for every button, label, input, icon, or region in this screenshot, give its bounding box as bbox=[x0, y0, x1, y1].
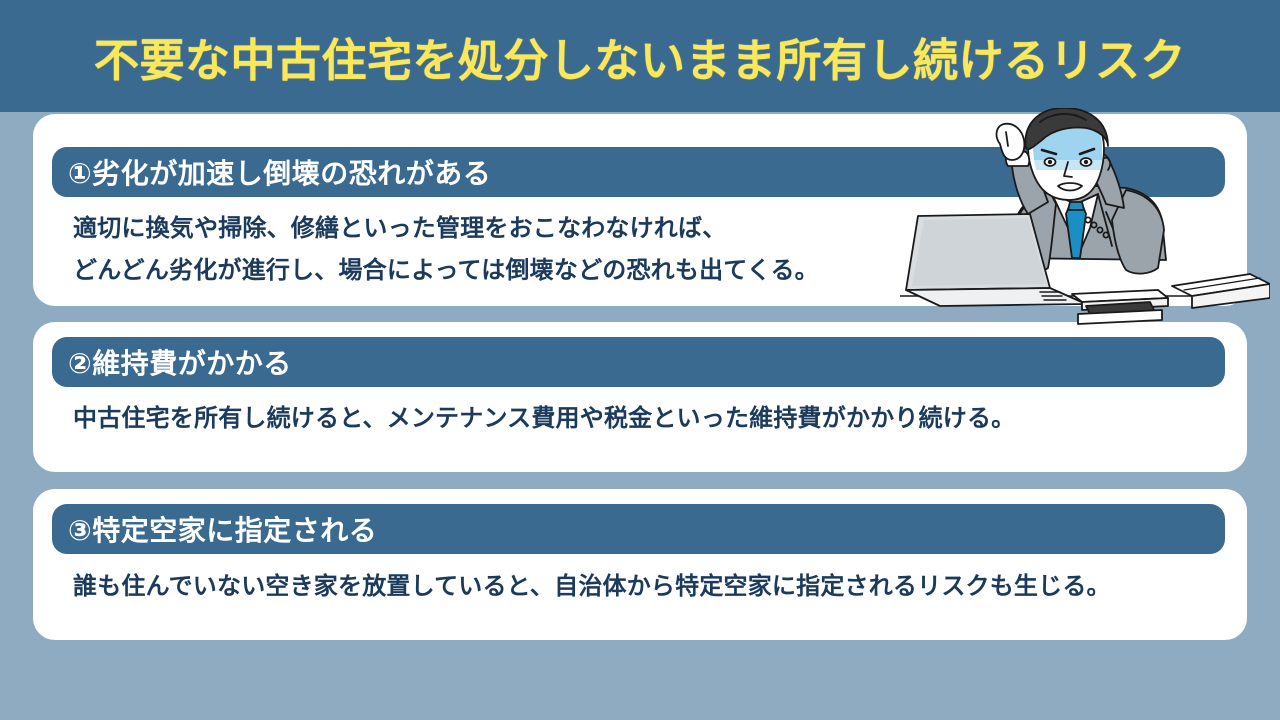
header-banner: 不要な中古住宅を処分しないまま所有し続けるリスク bbox=[0, 0, 1280, 112]
risk-card-3: ③特定空家に指定される 誰も住んでいない空き家を放置していると、自治体から特定空… bbox=[33, 489, 1247, 640]
risk-heading-3: ③特定空家に指定される bbox=[68, 509, 377, 549]
risk-body-1-line-2: どんどん劣化が進行し、場合によっては倒壊などの恐れも出てくる。 bbox=[73, 250, 819, 292]
risk-body-3-line-1: 誰も住んでいない空き家を放置していると、自治体から特定空家に指定されるリスクも生… bbox=[73, 566, 1111, 608]
risk-body-1-line-1: 適切に換気や掃除、修繕といった管理をおこなわなければ、 bbox=[73, 208, 819, 250]
page-title: 不要な中古住宅を処分しないまま所有し続けるリスク bbox=[94, 24, 1186, 89]
risk-card-1: ①劣化が加速し倒壊の恐れがある 適切に換気や掃除、修繕といった管理をおこなわなけ… bbox=[33, 114, 1247, 306]
risk-body-2-line-1: 中古住宅を所有し続けると、メンテナンス費用や税金といった維持費がかかり続ける。 bbox=[73, 398, 1015, 440]
risk-card-2: ②維持費がかかる 中古住宅を所有し続けると、メンテナンス費用や税金といった維持費… bbox=[33, 322, 1247, 472]
risk-body-2: 中古住宅を所有し続けると、メンテナンス費用や税金といった維持費がかかり続ける。 bbox=[73, 398, 1015, 440]
risk-heading-band-3: ③特定空家に指定される bbox=[52, 504, 1225, 554]
risk-heading-band-1: ①劣化が加速し倒壊の恐れがある bbox=[52, 147, 1225, 197]
risk-heading-1: ①劣化が加速し倒壊の恐れがある bbox=[68, 152, 491, 192]
risk-body-1: 適切に換気や掃除、修繕といった管理をおこなわなければ、 どんどん劣化が進行し、場… bbox=[73, 208, 819, 292]
infographic-canvas: 不要な中古住宅を処分しないまま所有し続けるリスク ①劣化が加速し倒壊の恐れがある… bbox=[0, 0, 1280, 720]
risk-heading-2: ②維持費がかかる bbox=[68, 342, 292, 382]
risk-body-3: 誰も住んでいない空き家を放置していると、自治体から特定空家に指定されるリスクも生… bbox=[73, 566, 1111, 608]
risk-heading-band-2: ②維持費がかかる bbox=[52, 337, 1225, 387]
